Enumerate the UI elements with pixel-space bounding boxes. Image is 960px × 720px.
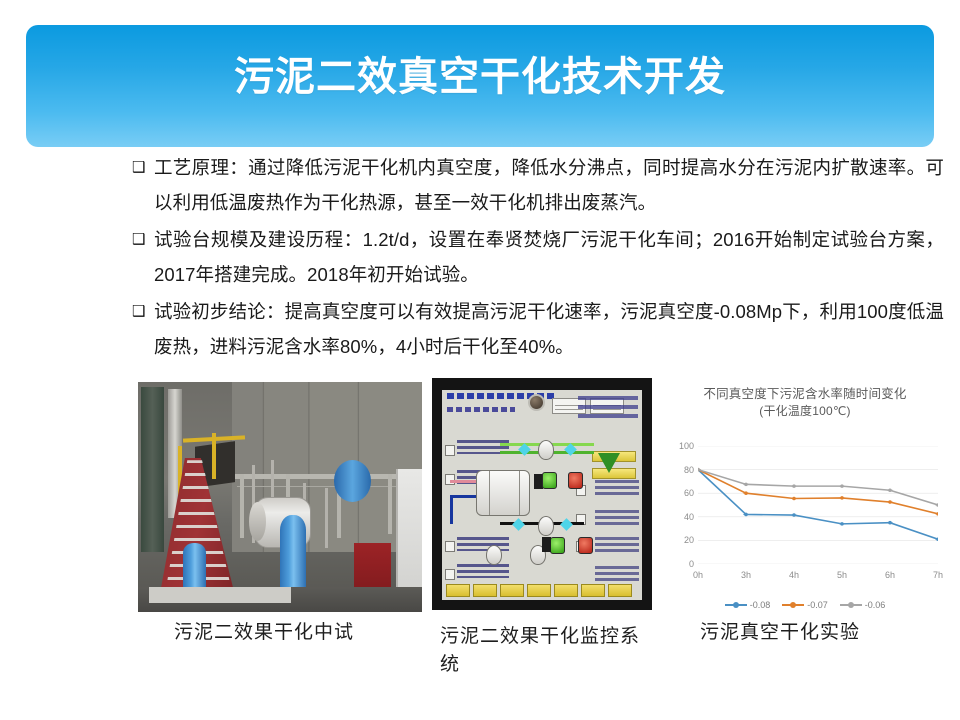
figure-hmi-photo bbox=[432, 378, 652, 610]
hmi-button[interactable] bbox=[581, 584, 605, 597]
bullet-item: ❑ 试验台规模及建设历程：1.2t/d，设置在奉贤焚烧厂污泥干化车间；2016开… bbox=[132, 222, 944, 292]
chart-legend-item: -0.08 bbox=[725, 600, 771, 610]
bullet-item: ❑ 工艺原理：通过降低污泥干化机内真空度，降低水分沸点，同时提高水分在污泥内扩散… bbox=[132, 150, 944, 220]
bullet-square-icon: ❑ bbox=[132, 150, 154, 185]
hmi-button[interactable] bbox=[527, 584, 551, 597]
chart-legend-item: -0.06 bbox=[840, 600, 886, 610]
hmi-photo-image bbox=[432, 378, 652, 610]
figure-caption: 污泥二效果干化中试 bbox=[174, 618, 364, 646]
bullet-square-icon: ❑ bbox=[132, 294, 154, 329]
chart-legend-label: -0.08 bbox=[750, 600, 771, 610]
chart-title: 不同真空度下污泥含水率随时间变化 (干化温度100℃) bbox=[660, 378, 950, 420]
chart-x-tick: 5h bbox=[837, 570, 847, 580]
chart-y-tick: 100 bbox=[664, 441, 694, 451]
chart-y-tick: 60 bbox=[664, 488, 694, 498]
plant-photo-image bbox=[138, 382, 422, 612]
figure-caption: 污泥二效果干化监控系统 bbox=[440, 622, 650, 678]
chart-legend-swatch bbox=[840, 604, 862, 606]
status-lamp-green bbox=[542, 472, 557, 489]
title-banner: 污泥二效真空干化技术开发 bbox=[26, 25, 934, 147]
figure-caption: 污泥真空干化实验 bbox=[700, 618, 930, 646]
page-title: 污泥二效真空干化技术开发 bbox=[234, 57, 726, 97]
status-lamp-green bbox=[550, 537, 565, 554]
chart-legend-swatch bbox=[725, 604, 747, 606]
slide-root: 污泥二效真空干化技术开发 ❑ 工艺原理：通过降低污泥干化机内真空度，降低水分沸点… bbox=[0, 0, 960, 720]
chart-y-tick: 80 bbox=[664, 465, 694, 475]
bullet-text: 试验初步结论：提高真空度可以有效提高污泥干化速率，污泥真空度-0.08Mp下，利… bbox=[154, 294, 944, 364]
chart-x-tick: 3h bbox=[741, 570, 751, 580]
chart-legend-label: -0.07 bbox=[807, 600, 828, 610]
chart-legend-swatch bbox=[782, 604, 804, 606]
hmi-button[interactable] bbox=[554, 584, 578, 597]
chart-legend-label: -0.06 bbox=[865, 600, 886, 610]
hmi-screen bbox=[442, 390, 642, 600]
hmi-button[interactable] bbox=[500, 584, 524, 597]
status-lamp-red bbox=[578, 537, 593, 554]
chart-plot-area bbox=[698, 446, 938, 564]
bullet-text: 试验台规模及建设历程：1.2t/d，设置在奉贤焚烧厂污泥干化车间；2016开始制… bbox=[154, 222, 944, 292]
photo-frame bbox=[138, 382, 422, 612]
chart-y-tick: 0 bbox=[664, 559, 694, 569]
hmi-button[interactable] bbox=[608, 584, 632, 597]
chart-legend: -0.08-0.07-0.06 bbox=[660, 600, 950, 610]
chart-svg bbox=[698, 446, 938, 564]
bullet-item: ❑ 试验初步结论：提高真空度可以有效提高污泥干化速率，污泥真空度-0.08Mp下… bbox=[132, 294, 944, 364]
bullet-list: ❑ 工艺原理：通过降低污泥干化机内真空度，降低水分沸点，同时提高水分在污泥内扩散… bbox=[132, 150, 944, 366]
hmi-button[interactable] bbox=[473, 584, 497, 597]
bullet-square-icon: ❑ bbox=[132, 222, 154, 257]
chart-title-line1: 不同真空度下污泥含水率随时间变化 bbox=[703, 387, 906, 401]
status-lamp-red bbox=[568, 472, 583, 489]
chart-x-tick: 6h bbox=[885, 570, 895, 580]
chart-x-tick: 4h bbox=[789, 570, 799, 580]
bullet-text: 工艺原理：通过降低污泥干化机内真空度，降低水分沸点，同时提高水分在污泥内扩散速率… bbox=[154, 150, 944, 220]
chart-x-tick: 7h bbox=[933, 570, 943, 580]
photo-frame bbox=[432, 378, 652, 610]
hmi-button[interactable] bbox=[446, 584, 470, 597]
chart-subtitle: (干化温度100℃) bbox=[660, 403, 950, 420]
figure-chart: 不同真空度下污泥含水率随时间变化 (干化温度100℃) 020406080100… bbox=[660, 378, 950, 616]
chart-y-tick: 20 bbox=[664, 535, 694, 545]
figure-plant-photo bbox=[138, 382, 422, 612]
gauge-icon bbox=[528, 394, 545, 411]
chart-y-tick: 40 bbox=[664, 512, 694, 522]
chart: 不同真空度下污泥含水率随时间变化 (干化温度100℃) 020406080100… bbox=[660, 378, 950, 616]
chart-legend-item: -0.07 bbox=[782, 600, 828, 610]
chart-x-tick: 0h bbox=[693, 570, 703, 580]
